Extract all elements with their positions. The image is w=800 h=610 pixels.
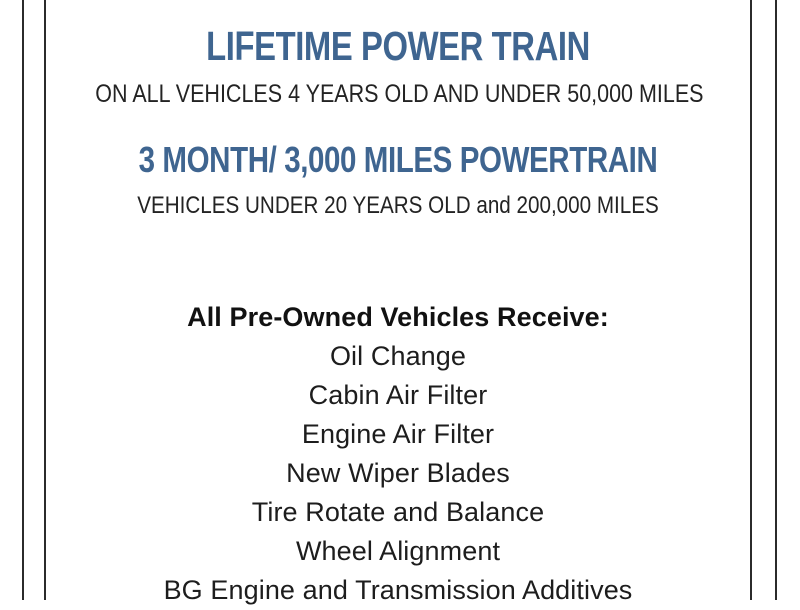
warranty-headline-lifetime-power-train: LIFETIME POWER TRAIN (116, 26, 679, 67)
service-item: Engine Air Filter (46, 415, 750, 454)
service-item: Tire Rotate and Balance (46, 493, 750, 532)
warranty-subhead-3-month-powertrain: VEHICLES UNDER 20 YEARS OLD and 200,000 … (95, 194, 700, 218)
service-item: Cabin Air Filter (46, 376, 750, 415)
service-item: Oil Change (46, 337, 750, 376)
flyer-content: LIFETIME POWER TRAIN ON ALL VEHICLES 4 Y… (46, 0, 750, 600)
service-item: New Wiper Blades (46, 454, 750, 493)
warranty-headline-3-month-powertrain: 3 MONTH/ 3,000 MILES POWERTRAIN (109, 142, 686, 178)
flyer-page: LIFETIME POWER TRAIN ON ALL VEHICLES 4 Y… (0, 0, 800, 600)
service-item: BG Engine and Transmission Additives (46, 571, 750, 610)
border-rule-right-outer (775, 0, 777, 600)
border-rule-left-outer (22, 0, 24, 600)
warranty-subhead-lifetime-power-train: ON ALL VEHICLES 4 YEARS OLD AND UNDER 50… (95, 82, 700, 107)
service-item: Wheel Alignment (46, 532, 750, 571)
border-rule-right-inner (750, 0, 752, 600)
included-services-heading: All Pre-Owned Vehicles Receive: (46, 298, 750, 337)
included-services-block: All Pre-Owned Vehicles Receive: Oil Chan… (46, 298, 750, 610)
